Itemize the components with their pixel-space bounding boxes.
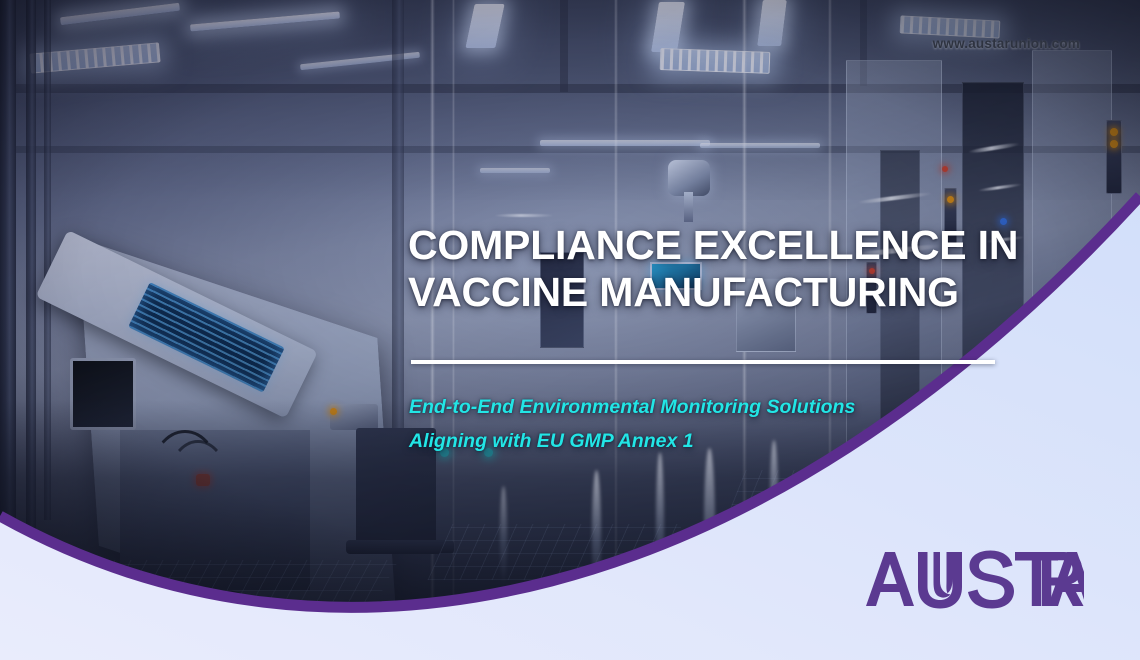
austar-logo[interactable] (862, 548, 1084, 610)
cover-slide: www.austarunion.com COMPLIANCE EXCELLENC… (0, 0, 1140, 660)
austar-logo-mark (862, 548, 1084, 610)
logo-letter-s (968, 551, 1014, 609)
title-line-1: COMPLIANCE EXCELLENCE IN (408, 222, 1068, 269)
title-line-2: VACCINE MANUFACTURING (408, 269, 1068, 316)
logo-letter-a (866, 552, 914, 606)
logo-letter-r (1042, 552, 1084, 606)
subtitle-line-1: End-to-End Environmental Monitoring Solu… (409, 390, 1049, 424)
page-title: COMPLIANCE EXCELLENCE IN VACCINE MANUFAC… (408, 222, 1068, 316)
title-divider (411, 360, 995, 364)
website-url[interactable]: www.austarunion.com (933, 36, 1080, 51)
austar-tulip-leaf-2 (946, 552, 952, 593)
subtitle-line-2: Aligning with EU GMP Annex 1 (409, 424, 1049, 458)
page-subtitle: End-to-End Environmental Monitoring Solu… (409, 390, 1049, 458)
